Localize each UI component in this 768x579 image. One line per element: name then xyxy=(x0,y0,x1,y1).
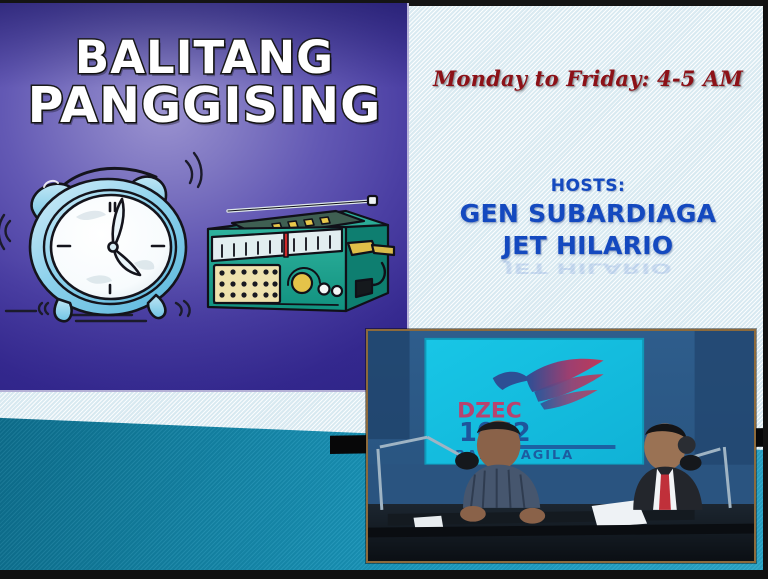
studio-photo-image: DZEC 1062 RADYO AGILA xyxy=(368,331,754,561)
presentation-slide: BALITANG PANGGISING Monday to Friday: 4-… xyxy=(0,0,768,579)
host-name-2: JET HILARIO xyxy=(418,231,758,260)
broadcast-schedule-text: Monday to Friday: 4-5 AM xyxy=(418,66,758,91)
slide-bottom-border xyxy=(0,570,768,579)
transistor-radio-icon xyxy=(196,189,396,317)
program-title-line-2: PANGGISING xyxy=(0,83,409,129)
alarm-clock-icon xyxy=(14,151,204,323)
slide-right-border xyxy=(763,0,768,579)
hosts-block: HOSTS: GEN SUBARDIAGA JET HILARIO xyxy=(418,176,758,260)
program-title: BALITANG PANGGISING xyxy=(0,37,409,128)
program-artwork-panel: BALITANG PANGGISING xyxy=(0,3,409,392)
hosts-label: HOSTS: xyxy=(418,176,758,196)
program-title-line-1: BALITANG xyxy=(0,37,409,79)
studio-photo: DZEC 1062 RADYO AGILA xyxy=(366,329,756,563)
host-name-1: GEN SUBARDIAGA xyxy=(418,199,758,228)
